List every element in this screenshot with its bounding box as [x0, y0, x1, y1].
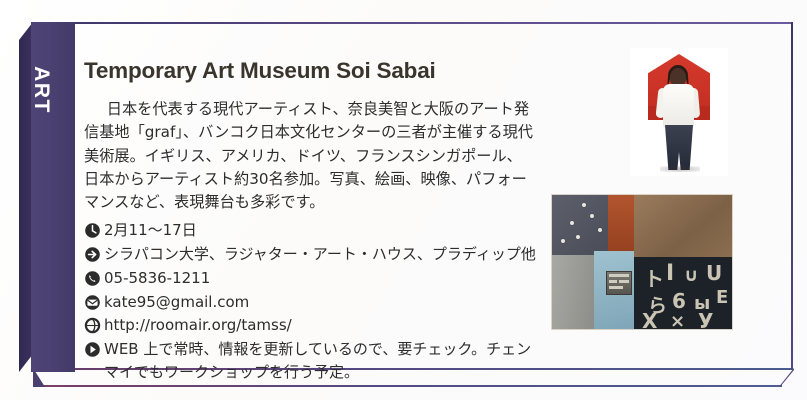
page-border-bottom-outer	[42, 385, 782, 387]
info-row-venue: シラパコン大学、ラジャター・アート・ハウス、プラディップ他	[84, 243, 544, 266]
info-phone-text: 05-5836-1211	[104, 267, 544, 290]
embroidered-square-patch	[606, 271, 632, 295]
info-date-text: 2月11〜17日	[104, 219, 544, 242]
page-border-top	[34, 22, 793, 24]
patch-orange	[608, 195, 634, 255]
play-icon	[84, 341, 101, 358]
info-venue-text: シラパコン大学、ラジャター・アート・ハウス、プラディップ他	[104, 243, 544, 266]
artist-with-red-house-sculpture-photo	[630, 48, 728, 176]
patch-light-grey	[552, 255, 594, 329]
info-row-note: WEB 上で常時、情報を更新しているので、要チェック。チェンマイでもワークショッ…	[84, 338, 544, 384]
info-website-text: http://roomair.org/tamss/	[104, 314, 544, 337]
event-info-list: 2月11〜17日 シラパコン大学、ラジャター・アート・ハウス、プラディップ他	[84, 219, 544, 384]
info-row-website: http://roomair.org/tamss/	[84, 314, 544, 337]
globe-icon	[84, 317, 101, 334]
patchwork-textile-photo: ト I ∪ U ら 6 ы X × У E	[551, 194, 733, 330]
envelope-icon	[84, 294, 101, 311]
patch-grey-blue	[552, 195, 608, 255]
info-row-phone: 05-5836-1211	[84, 267, 544, 290]
page-border-right	[791, 22, 793, 370]
category-tab-label: ART	[19, 42, 63, 138]
article-block: Temporary Art Museum Soi Sabai 日本を代表する現代…	[84, 58, 544, 385]
figure-jeans	[665, 125, 693, 170]
figure-white-tshirt	[663, 84, 694, 128]
info-note-text: WEB 上で常時、情報を更新しているので、要チェック。チェンマイでもワークショッ…	[104, 338, 544, 384]
info-row-email: kate95@gmail.com	[84, 291, 544, 314]
info-row-date: 2月11〜17日	[84, 219, 544, 242]
figure-ground-shadow	[660, 166, 700, 172]
page-title: Temporary Art Museum Soi Sabai	[84, 58, 544, 84]
article-body: 日本を代表する現代アーティスト、奈良美智と大阪のアート発信基地「graf」、バン…	[84, 98, 536, 214]
arrow-circle-icon	[84, 246, 101, 263]
phone-icon	[84, 270, 101, 287]
info-email-text: kate95@gmail.com	[104, 291, 544, 314]
magazine-page: ART Temporary Art Museum Soi Sabai 日本を代表…	[0, 0, 807, 400]
category-tab-art: ART	[19, 22, 75, 372]
patch-brown-tweed	[634, 195, 732, 257]
clock-icon	[84, 222, 101, 239]
